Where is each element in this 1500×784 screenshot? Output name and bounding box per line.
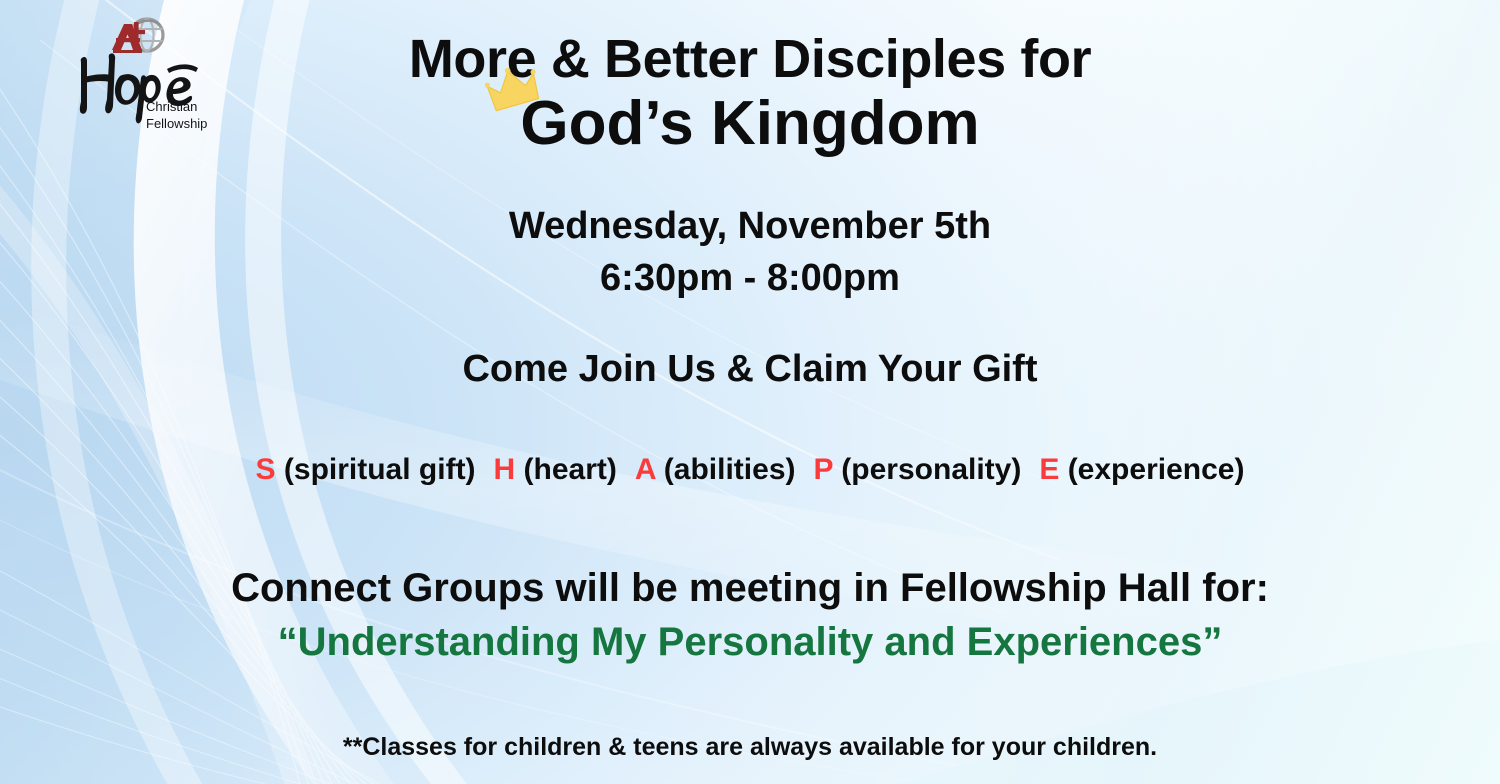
event-date: Wednesday, November 5th — [0, 200, 1500, 252]
headline-line-2: God’s Kingdom — [520, 89, 979, 158]
event-flyer: Christian Fellowship More & Better Disci… — [0, 0, 1500, 784]
shape-word: (spiritual gift) — [276, 453, 476, 486]
shape-item-h: H (heart) — [494, 453, 617, 486]
shape-word: (experience) — [1059, 453, 1244, 486]
shape-item-s: S (spiritual gift) — [256, 453, 476, 486]
shape-item-p: P (personality) — [814, 453, 1022, 486]
shape-letter: A — [635, 453, 656, 486]
shape-letter: H — [494, 453, 516, 486]
connect-groups-block: Connect Groups will be meeting in Fellow… — [0, 562, 1500, 668]
shape-letter: E — [1039, 453, 1059, 486]
shape-word: (heart) — [515, 453, 617, 486]
event-datetime: Wednesday, November 5th 6:30pm - 8:00pm — [0, 200, 1500, 305]
shape-word: (abilities) — [655, 453, 795, 486]
footnote-text: **Classes for children & teens are alway… — [0, 733, 1500, 762]
shape-acronym-line: S (spiritual gift)H (heart)A (abilities)… — [0, 453, 1500, 487]
headline-block: More & Better Disciples for God’s Kingdo… — [0, 32, 1500, 156]
connect-groups-topic: “Understanding My Personality and Experi… — [0, 616, 1500, 668]
shape-letter: S — [256, 453, 276, 486]
event-time: 6:30pm - 8:00pm — [0, 252, 1500, 304]
headline-line-1: More & Better Disciples for — [0, 32, 1500, 87]
shape-word: (personality) — [833, 453, 1021, 486]
call-to-action-text: Come Join Us & Claim Your Gift — [0, 348, 1500, 391]
shape-item-a: A (abilities) — [635, 453, 796, 486]
connect-groups-line: Connect Groups will be meeting in Fellow… — [0, 562, 1500, 614]
shape-item-e: E (experience) — [1039, 453, 1244, 486]
shape-letter: P — [814, 453, 833, 486]
headline-line-2-wrapper: God’s Kingdom — [520, 91, 979, 156]
